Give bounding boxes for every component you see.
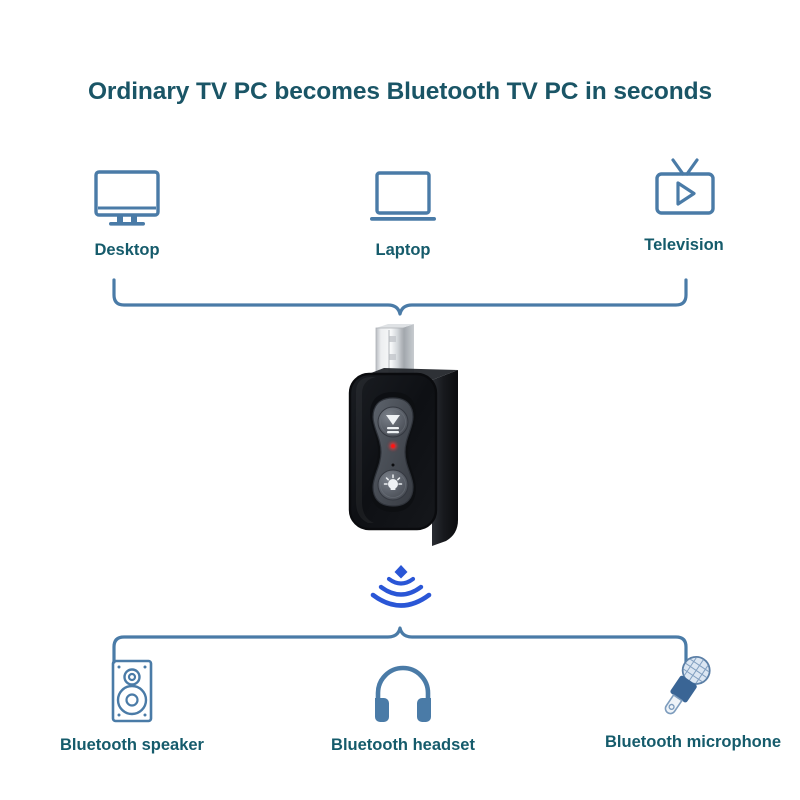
speaker-icon-wrap [57, 655, 207, 727]
source-label-television: Television [614, 236, 754, 255]
desktop-icon-wrap [57, 160, 197, 232]
source-node-television: Television [614, 155, 754, 255]
source-label-desktop: Desktop [57, 241, 197, 260]
page-title: Ordinary TV PC becomes Bluetooth TV PC i… [0, 78, 800, 106]
bluetooth-usb-adapter [336, 322, 476, 567]
microphone-hole [392, 464, 395, 467]
headset-icon-wrap [328, 655, 478, 727]
top-source-bracket [100, 278, 700, 326]
output-label-speaker: Bluetooth speaker [57, 736, 207, 755]
output-node-headset: Bluetooth headset [328, 655, 478, 755]
source-node-desktop: Desktop [57, 160, 197, 260]
adapter-illustration [336, 322, 476, 567]
output-node-microphone: Bluetooth microphone [605, 652, 765, 752]
laptop-icon-wrap [333, 160, 473, 232]
output-label-headset: Bluetooth headset [328, 736, 478, 755]
television-icon [645, 155, 723, 227]
light-mode-button[interactable] [378, 470, 408, 500]
source-label-laptop: Laptop [333, 241, 473, 260]
output-node-speaker: Bluetooth speaker [57, 655, 207, 755]
status-led [389, 442, 396, 449]
bluetooth-wireless-signal-icon [368, 563, 434, 609]
microphone-icon-wrap [605, 652, 765, 724]
transmit-mode-button[interactable] [378, 407, 408, 437]
output-label-microphone: Bluetooth microphone [605, 733, 765, 752]
product-infographic: Ordinary TV PC becomes Bluetooth TV PC i… [0, 0, 800, 800]
laptop-icon [363, 166, 443, 232]
bluetooth-speaker-icon [101, 655, 163, 727]
bluetooth-microphone-icon [648, 650, 722, 724]
bluetooth-headset-icon [365, 655, 441, 727]
source-node-laptop: Laptop [333, 160, 473, 260]
television-icon-wrap [614, 155, 754, 227]
desktop-monitor-icon [92, 166, 162, 232]
